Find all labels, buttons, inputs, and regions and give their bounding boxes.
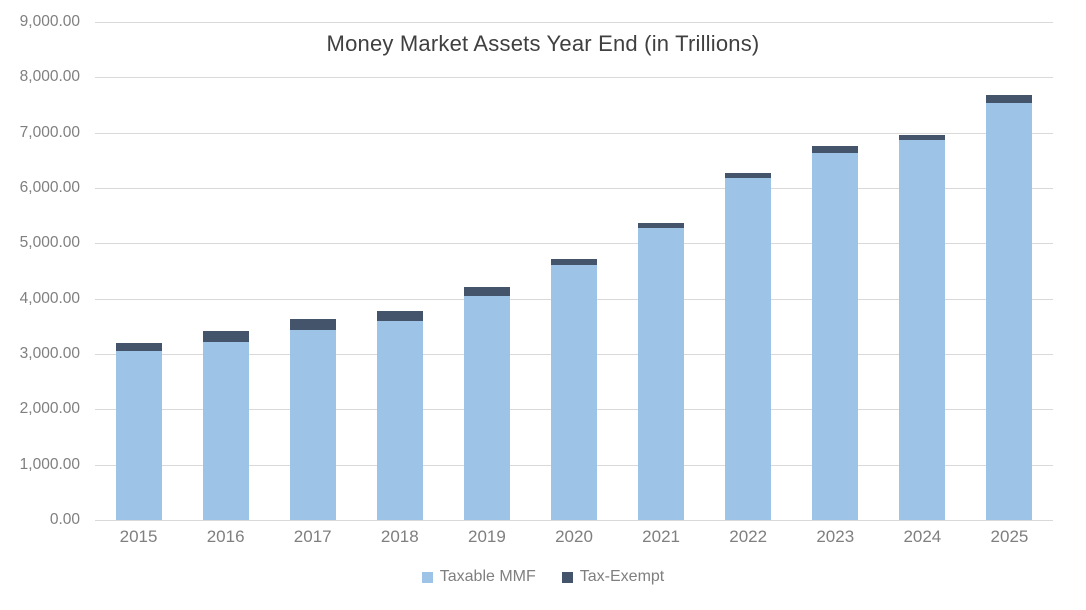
legend-item[interactable]: Taxable MMF [422, 568, 536, 586]
bar-group[interactable] [638, 223, 684, 520]
y-axis-tick-label: 6,000.00 [0, 179, 80, 197]
bar-segment-tax-exempt[interactable] [377, 311, 423, 321]
x-axis-tick-label: 2023 [816, 527, 854, 547]
bar-segment-taxable-mmf[interactable] [551, 265, 597, 520]
bar-group[interactable] [290, 319, 336, 520]
y-axis-labels: 9,000.008,000.007,000.006,000.005,000.00… [0, 22, 80, 520]
bar-segment-taxable-mmf[interactable] [464, 296, 510, 520]
bar-segment-taxable-mmf[interactable] [116, 351, 162, 520]
x-axis-tick-label: 2022 [729, 527, 767, 547]
bar-segment-taxable-mmf[interactable] [290, 330, 336, 520]
x-axis-tick-label: 2025 [991, 527, 1029, 547]
x-axis-tick-label: 2016 [207, 527, 245, 547]
bar-group[interactable] [116, 343, 162, 520]
legend-item[interactable]: Tax-Exempt [562, 568, 664, 586]
bar-group[interactable] [203, 331, 249, 520]
bar-segment-taxable-mmf[interactable] [725, 178, 771, 520]
plot-area [95, 22, 1053, 520]
bar-group[interactable] [725, 173, 771, 520]
chart-legend: Taxable MMFTax-Exempt [0, 568, 1086, 586]
y-axis-tick-label: 9,000.00 [0, 13, 80, 31]
bar-segment-taxable-mmf[interactable] [986, 103, 1032, 520]
bar-segment-taxable-mmf[interactable] [377, 321, 423, 520]
x-axis-labels: 2015201620172018201920202021202220232024… [95, 527, 1053, 555]
bar-group[interactable] [377, 311, 423, 520]
legend-swatch-icon [422, 572, 433, 583]
bar-segment-tax-exempt[interactable] [464, 287, 510, 296]
bar-segment-tax-exempt[interactable] [551, 259, 597, 265]
bar-segment-taxable-mmf[interactable] [203, 342, 249, 520]
bar-segment-tax-exempt[interactable] [290, 319, 336, 330]
y-axis-tick-label: 8,000.00 [0, 68, 80, 86]
bar-segment-tax-exempt[interactable] [986, 95, 1032, 103]
y-axis-tick-label: 3,000.00 [0, 345, 80, 363]
bar-group[interactable] [899, 135, 945, 520]
bar-segment-taxable-mmf[interactable] [812, 153, 858, 520]
bar-group[interactable] [551, 259, 597, 520]
x-axis-tick-label: 2017 [294, 527, 332, 547]
y-axis-tick-label: 2,000.00 [0, 400, 80, 418]
y-axis-tick-label: 4,000.00 [0, 290, 80, 308]
bar-group[interactable] [812, 146, 858, 520]
bar-series-group [95, 22, 1053, 520]
bar-group[interactable] [986, 95, 1032, 520]
x-axis-tick-label: 2021 [642, 527, 680, 547]
bar-segment-tax-exempt[interactable] [725, 173, 771, 178]
bar-segment-taxable-mmf[interactable] [899, 140, 945, 520]
bar-segment-tax-exempt[interactable] [638, 223, 684, 228]
bar-segment-taxable-mmf[interactable] [638, 228, 684, 520]
axis-baseline [95, 520, 1053, 521]
x-axis-tick-label: 2024 [903, 527, 941, 547]
bar-segment-tax-exempt[interactable] [812, 146, 858, 153]
x-axis-tick-label: 2020 [555, 527, 593, 547]
y-axis-tick-label: 1,000.00 [0, 456, 80, 474]
legend-label: Taxable MMF [440, 568, 536, 586]
legend-label: Tax-Exempt [580, 568, 664, 586]
x-axis-tick-label: 2015 [120, 527, 158, 547]
chart-container: Money Market Assets Year End (in Trillio… [0, 0, 1086, 610]
y-axis-tick-label: 7,000.00 [0, 124, 80, 142]
y-axis-tick-label: 5,000.00 [0, 234, 80, 252]
x-axis-tick-label: 2018 [381, 527, 419, 547]
bar-segment-tax-exempt[interactable] [203, 331, 249, 342]
bar-segment-tax-exempt[interactable] [899, 135, 945, 140]
bar-group[interactable] [464, 287, 510, 520]
x-axis-tick-label: 2019 [468, 527, 506, 547]
legend-swatch-icon [562, 572, 573, 583]
bar-segment-tax-exempt[interactable] [116, 343, 162, 351]
y-axis-tick-label: 0.00 [0, 511, 80, 529]
